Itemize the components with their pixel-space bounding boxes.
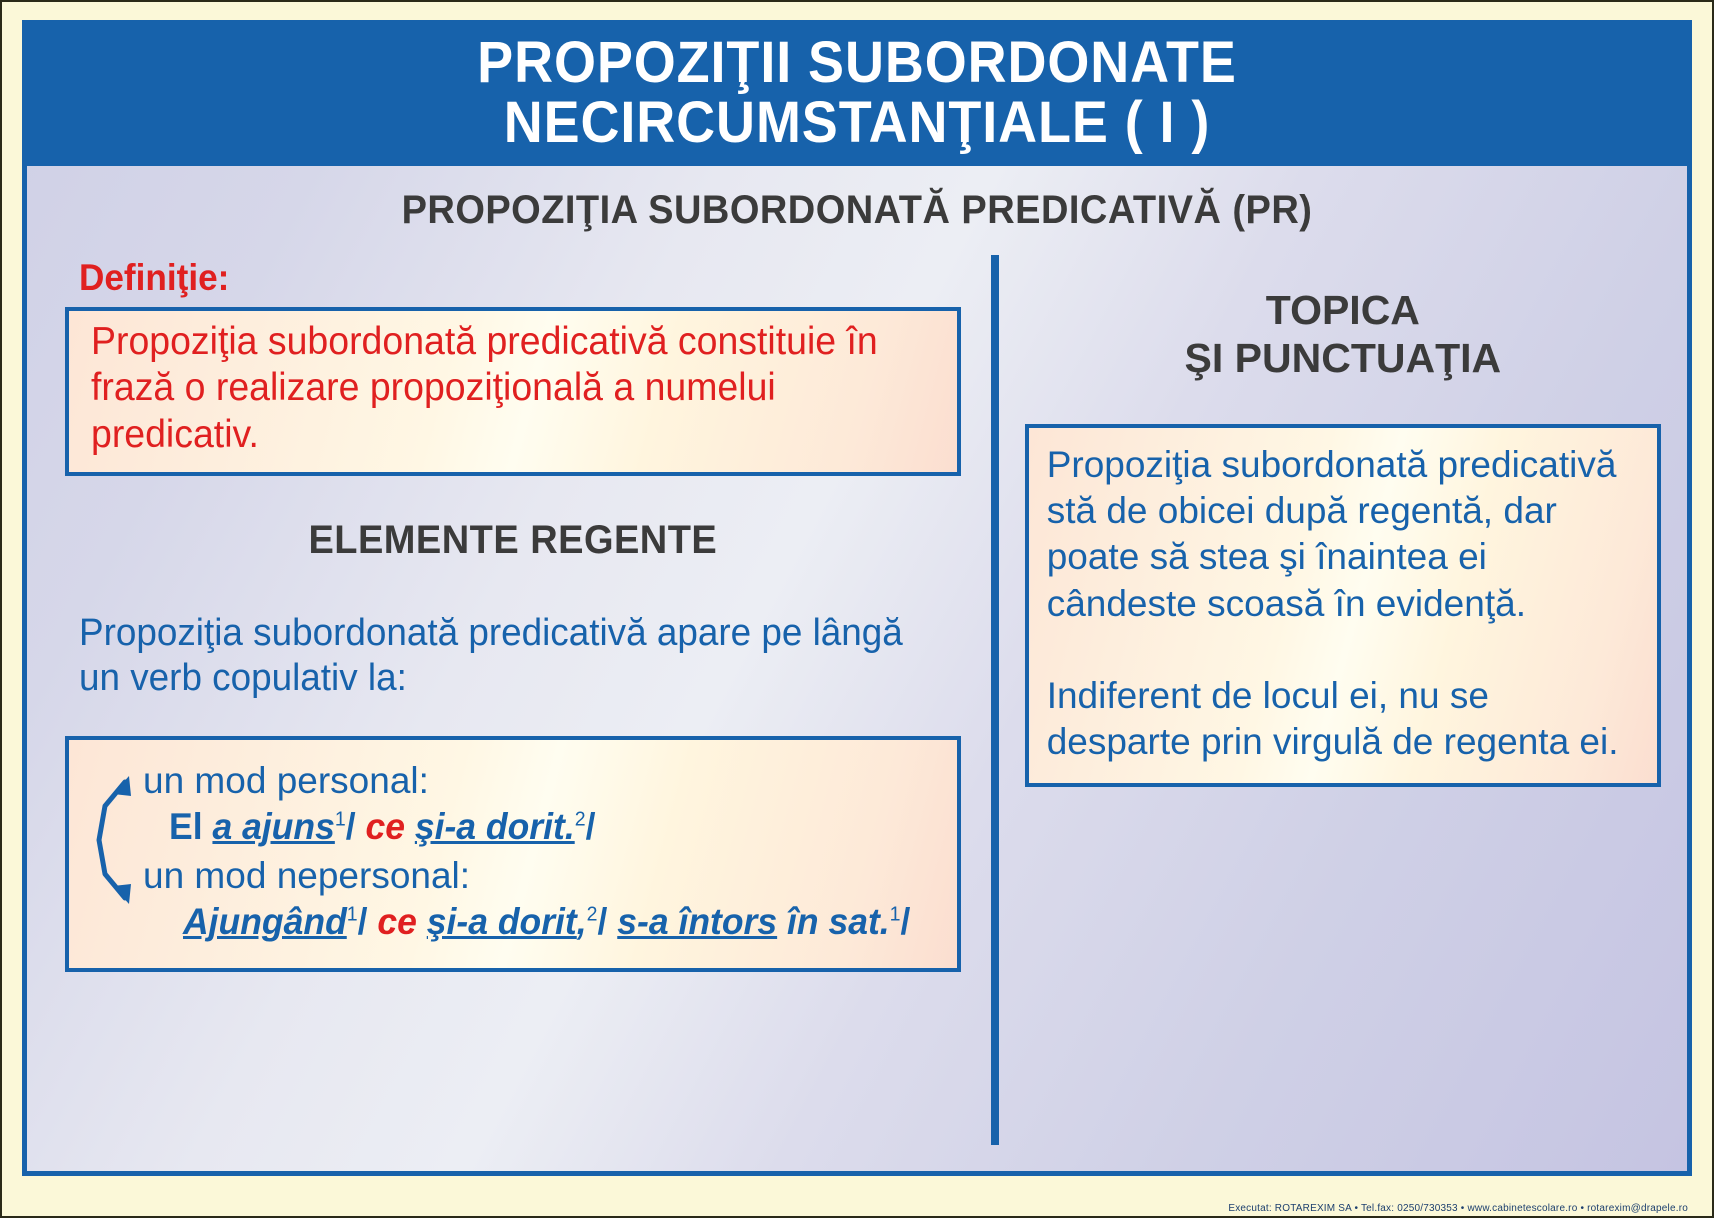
ex2-sup-1: 1	[347, 904, 358, 926]
poster-subtitle: PROPOZIŢIA SUBORDONATĂ PREDICATIVĂ (PR)	[69, 166, 1646, 243]
footer-credits: Executat: ROTAREXIM SA • Tel.fax: 0250/7…	[1228, 1203, 1688, 1214]
example-1-heading: un mod personal:	[143, 760, 941, 803]
ex2-comma: ,	[577, 901, 587, 942]
ex1-sup-1: 1	[335, 809, 346, 831]
poster-title-line-1: PROPOZIŢII SUBORDONATE	[94, 33, 1619, 93]
regent-description-text: Propoziţia subordonată predicativă apare…	[79, 611, 934, 702]
ex2-slash-1: /	[358, 901, 378, 942]
ex1-slash-2: /	[586, 806, 596, 847]
ex1-sup-2: 2	[575, 809, 586, 831]
topica-box: Propoziţia subordonată predicativă stă d…	[1025, 424, 1661, 788]
ex1-part-connector: ce	[365, 806, 405, 847]
poster-title-line-2: NECIRCUMSTANŢIALE ( I )	[94, 93, 1619, 153]
ex1-slash-1: /	[346, 806, 366, 847]
ex2-space-1	[417, 901, 427, 942]
ex2-part-clause: şi-a dorit	[427, 901, 577, 942]
poster-inner-frame: PROPOZIŢII SUBORDONATE NECIRCUMSTANŢIALE…	[22, 20, 1692, 1176]
ex2-sup-2: 2	[587, 904, 598, 926]
ex2-part-gerund: Ajungând	[183, 901, 347, 942]
right-column: TOPICA ŞI PUNCTUAŢIA Propoziţia subordon…	[999, 243, 1687, 1171]
ex2-slash-2: /	[598, 901, 618, 942]
definition-text: Propoziţia subordonată predicativă const…	[91, 319, 905, 457]
ex1-space-1	[405, 806, 415, 847]
column-divider	[991, 255, 999, 1145]
ex1-part-verb: a ajuns	[212, 806, 334, 847]
example-2-sentence: Ajungând1/ ce şi-a dorit,2/ s-a întors î…	[183, 901, 910, 944]
definition-label: Definiţie:	[79, 257, 917, 299]
ex1-part-subject: El	[169, 806, 212, 847]
ex2-part-tail: în sat.	[777, 901, 890, 942]
topica-title-line-1: TOPICA	[1025, 287, 1661, 334]
ex2-sup-3: 1	[890, 904, 901, 926]
topica-title-line-2: ŞI PUNCTUAŢIA	[1025, 335, 1661, 382]
examples-box: un mod personal: El a ajuns1/ ce şi-a do…	[65, 736, 961, 972]
examples-content: un mod personal: El a ajuns1/ ce şi-a do…	[143, 760, 941, 944]
definition-box: Propoziţia subordonată predicativă const…	[65, 307, 961, 475]
poster-body: Definiţie: Propoziţia subordonată predic…	[27, 243, 1687, 1171]
double-arrow-brace-icon	[91, 766, 147, 914]
left-column: Definiţie: Propoziţia subordonată predic…	[27, 243, 991, 1171]
poster-root: PROPOZIŢII SUBORDONATE NECIRCUMSTANŢIALE…	[0, 0, 1714, 1218]
elemente-regente-title: ELEMENTE REGENTE	[87, 518, 938, 563]
ex2-slash-3: /	[901, 901, 911, 942]
ex1-part-clause: şi-a dorit.	[415, 806, 575, 847]
ex2-part-verb: s-a întors	[617, 901, 777, 942]
example-1-sentence: El a ajuns1/ ce şi-a dorit.2/	[169, 806, 910, 849]
poster-title-bar: PROPOZIŢII SUBORDONATE NECIRCUMSTANŢIALE…	[27, 25, 1687, 166]
topica-title: TOPICA ŞI PUNCTUAŢIA	[1025, 287, 1661, 381]
example-2-heading: un mod nepersonal:	[143, 855, 941, 898]
topica-paragraph-2: Indiferent de locul ei, nu se desparte p…	[1047, 673, 1641, 766]
topica-paragraph-1: Propoziţia subordonată predicativă stă d…	[1047, 442, 1641, 627]
ex2-part-connector: ce	[377, 901, 417, 942]
